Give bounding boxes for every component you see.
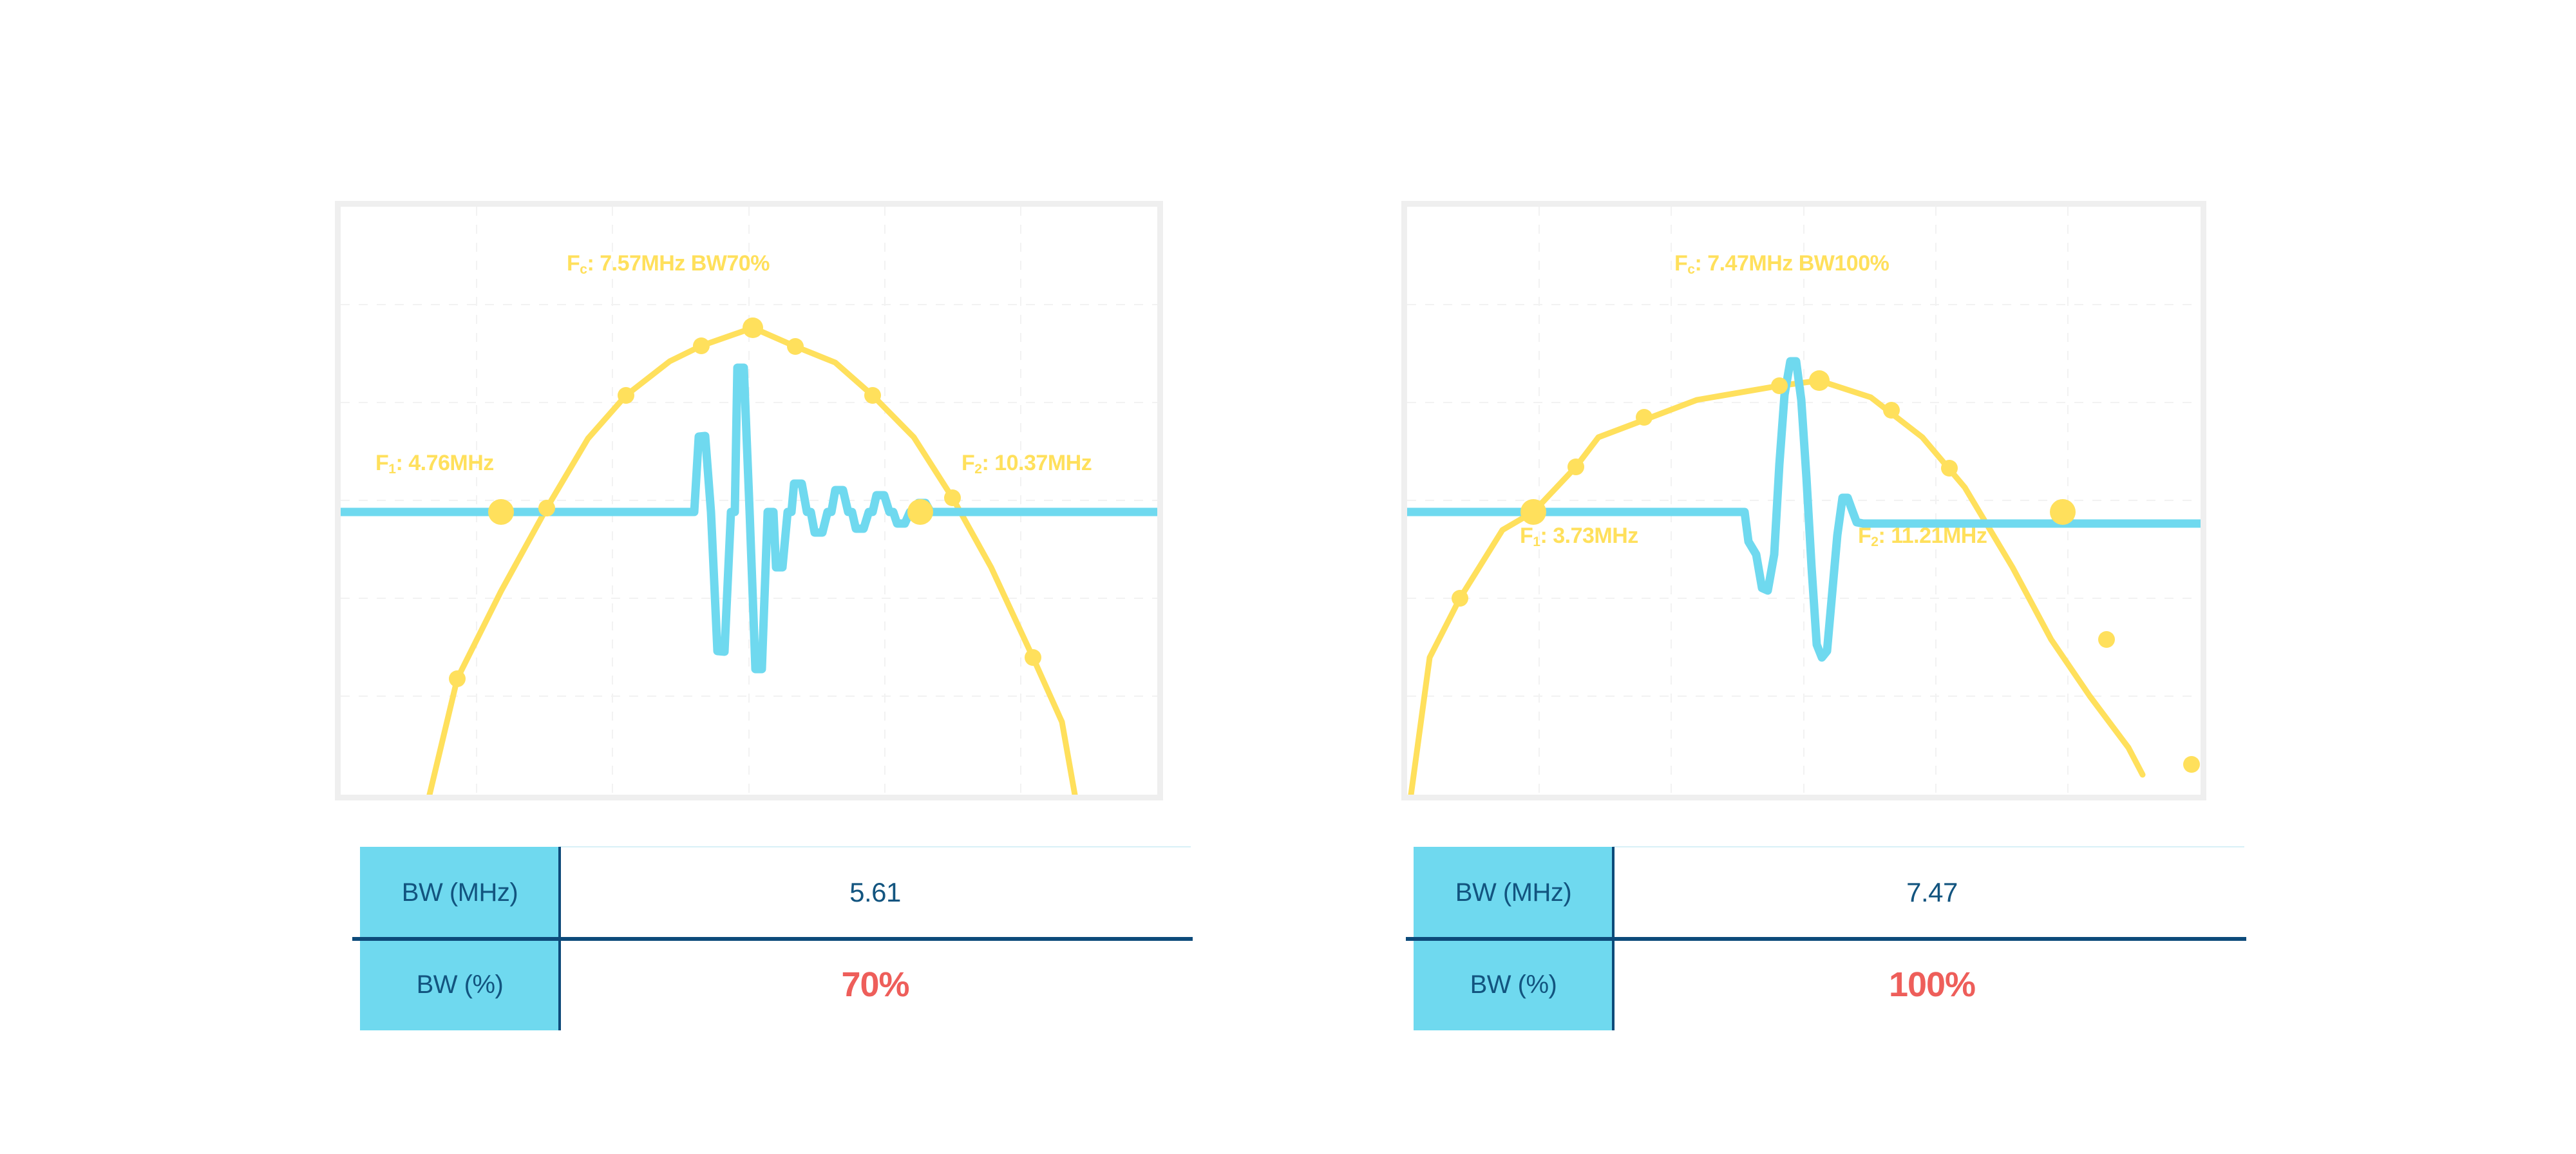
- center-frequency-text: : 7.57MHz BW70%: [587, 251, 769, 276]
- bw-mhz-value: 5.61: [849, 877, 901, 908]
- table-row: BW (MHz) 7.47: [1414, 847, 2251, 938]
- f2-subscript: 2: [1871, 534, 1878, 549]
- bw-percent-value-cell: 70%: [560, 939, 1191, 1030]
- center-frequency-label: Fc: 7.47MHz BW100%: [1674, 252, 1889, 276]
- f1-text: : 3.73MHz: [1540, 524, 1638, 548]
- bw-percent-value-cell: 100%: [1613, 939, 2251, 1030]
- center-frequency-subscript: c: [1687, 262, 1694, 277]
- f1-cutoff-label: F1: 3.73MHz: [1520, 525, 1638, 549]
- f2-symbol: F: [961, 451, 974, 475]
- f2-text: : 10.37MHz: [981, 451, 1092, 475]
- bw-percent-value: 70%: [841, 965, 909, 1005]
- f1-subscript: 1: [1533, 534, 1540, 549]
- f1-symbol: F: [1520, 524, 1533, 548]
- f2-cutoff-label: F2: 10.37MHz: [961, 452, 1092, 476]
- spectrum-plot-svg: [341, 207, 1157, 795]
- table-row-divider: [352, 937, 1193, 941]
- bw-mhz-value-cell: 7.47: [1613, 847, 2251, 938]
- center-frequency-label: Fc: 7.57MHz BW70%: [567, 252, 770, 276]
- bw-mhz-label: BW (MHz): [1414, 847, 1613, 938]
- center-frequency-symbol: F: [567, 251, 580, 276]
- table-row-divider: [1406, 937, 2246, 941]
- f1-symbol: F: [375, 451, 388, 475]
- f2-cutoff-label: F2: 11.21MHz: [1858, 525, 1987, 549]
- f1-cutoff-label: F1: 4.76MHz: [375, 452, 494, 476]
- table-row: BW (MHz) 5.61: [360, 847, 1191, 938]
- center-frequency-subscript: c: [580, 262, 587, 277]
- f1-text: : 4.76MHz: [395, 451, 493, 475]
- bw-percent-label: BW (%): [360, 939, 560, 1030]
- bw-mhz-value-cell: 5.61: [560, 847, 1191, 938]
- bw-mhz-label: BW (MHz): [360, 847, 560, 938]
- spectrum-chart-bw100: [1401, 201, 2206, 800]
- bandwidth-table-bw70: BW (MHz) 5.61 BW (%) 70%: [360, 847, 1191, 1030]
- panel-bw70: Fc: 7.57MHz BW70% F1: 4.76MHz F2: 10.37M…: [0, 0, 1288, 1154]
- center-frequency-text: : 7.47MHz BW100%: [1694, 251, 1889, 276]
- bandwidth-table-bw100: BW (MHz) 7.47 BW (%) 100%: [1414, 847, 2251, 1030]
- table-row: BW (%) 70%: [360, 939, 1191, 1030]
- f2-subscript: 2: [974, 462, 981, 477]
- bw-mhz-value: 7.47: [1906, 877, 1958, 908]
- spectrum-plot-svg: [1407, 207, 2201, 795]
- spectrum-data-points: [1452, 370, 2200, 773]
- bw-percent-label: BW (%): [1414, 939, 1613, 1030]
- bw-percent-value: 100%: [1889, 965, 1975, 1005]
- f1-subscript: 1: [388, 462, 395, 477]
- center-frequency-symbol: F: [1674, 251, 1687, 276]
- f2-symbol: F: [1858, 524, 1871, 548]
- table-row: BW (%) 100%: [1414, 939, 2251, 1030]
- spectrum-chart-bw70: [335, 201, 1163, 800]
- panel-bw100: Fc: 7.47MHz BW100% F1: 3.73MHz F2: 11.21…: [1288, 0, 2576, 1154]
- f2-text: : 11.21MHz: [1878, 524, 1987, 548]
